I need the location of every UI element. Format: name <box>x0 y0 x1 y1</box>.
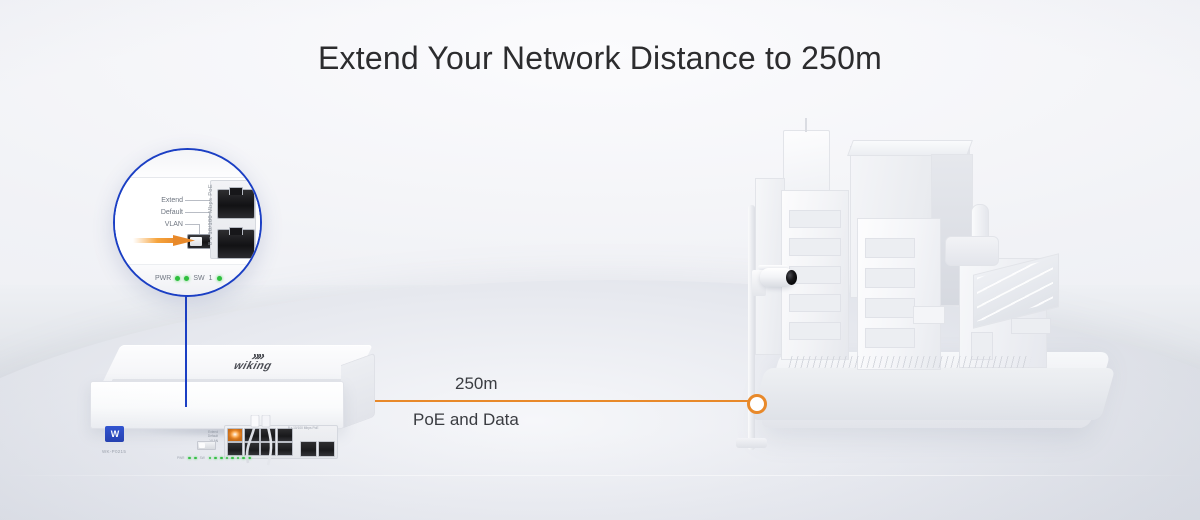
led-sw <box>194 457 197 460</box>
building-cluster <box>745 118 1095 423</box>
device-model-label: WK-P0215 <box>102 449 126 454</box>
callout-port-label: 8 x 10/100 Mbps PoE <box>208 184 214 245</box>
led-pwr <box>188 457 191 460</box>
page-title: Extend Your Network Distance to 250m <box>0 40 1200 77</box>
plaza-railing <box>789 356 1032 368</box>
callout-led-sw-dot <box>184 276 189 281</box>
mode-slide-switch[interactable] <box>197 441 216 450</box>
led-port-2 <box>214 457 217 460</box>
link-endpoint-node <box>747 394 767 414</box>
uplink-port-group <box>300 441 335 457</box>
callout-label-vlan: VLAN <box>125 219 183 231</box>
brand-badge-icon: W <box>105 426 124 442</box>
led-port-4 <box>226 457 229 460</box>
callout-port-bottom[interactable] <box>217 229 255 259</box>
callout-label-extend: Extend <box>125 195 183 207</box>
callout-led-label-1: 1 <box>209 275 213 282</box>
link-distance-label: 250m <box>455 374 498 394</box>
network-switch-device: »» wiking W WK-P0215 Extend Default VLAN <box>90 345 375 435</box>
camera-lens <box>786 270 797 285</box>
callout-port-block <box>210 180 256 259</box>
callout-panel-bottom-edge <box>115 264 260 265</box>
callout-pointer-arrow <box>133 235 195 246</box>
device-front-panel: W WK-P0215 Extend Default VLAN <box>90 381 344 429</box>
hanging-cable <box>240 415 300 471</box>
mode-switch-group[interactable]: Extend Default VLAN <box>174 430 218 452</box>
callout-led-row: PWR SW 1 <box>155 275 222 282</box>
device-brand-top: »» wiking <box>205 351 305 372</box>
callout-led-label-pwr: PWR <box>155 275 171 282</box>
uplink-port-2[interactable] <box>318 441 335 457</box>
callout-magnifier: Extend Default VLAN <box>113 148 262 297</box>
led-port-5 <box>231 457 234 460</box>
lead-vlan <box>185 224 199 225</box>
callout-led-label-sw: SW <box>193 275 204 282</box>
callout-port-bottom-tab <box>229 227 243 235</box>
callout-led-1 <box>217 276 222 281</box>
lead-default <box>185 212 209 213</box>
led-label-sw: SW <box>200 456 205 460</box>
led-port-6 <box>237 457 240 460</box>
callout-background: Extend Default VLAN <box>115 150 260 295</box>
callout-port-top-tab <box>229 187 243 195</box>
led-port-3 <box>220 457 223 460</box>
uplink-port-1[interactable] <box>300 441 317 457</box>
brand-mark-icon: »» <box>211 351 305 360</box>
led-port-1 <box>209 457 212 460</box>
ground-horizon-line <box>0 475 1200 476</box>
callout-port-top[interactable] <box>217 189 255 219</box>
callout-led-pwr <box>175 276 180 281</box>
callout-leader-line <box>185 292 187 407</box>
diagram-canvas: Extend Your Network Distance to 250m <box>0 0 1200 520</box>
link-type-label: PoE and Data <box>413 410 519 430</box>
led-label-pwr: PWR <box>177 456 184 460</box>
camera-pole-base <box>736 438 767 448</box>
brand-name: wiking <box>205 360 301 372</box>
callout-mode-labels: Extend Default VLAN <box>125 195 183 231</box>
device-side-face <box>341 353 375 429</box>
callout-label-default: Default <box>125 207 183 219</box>
callout-panel-top-edge <box>115 177 260 178</box>
